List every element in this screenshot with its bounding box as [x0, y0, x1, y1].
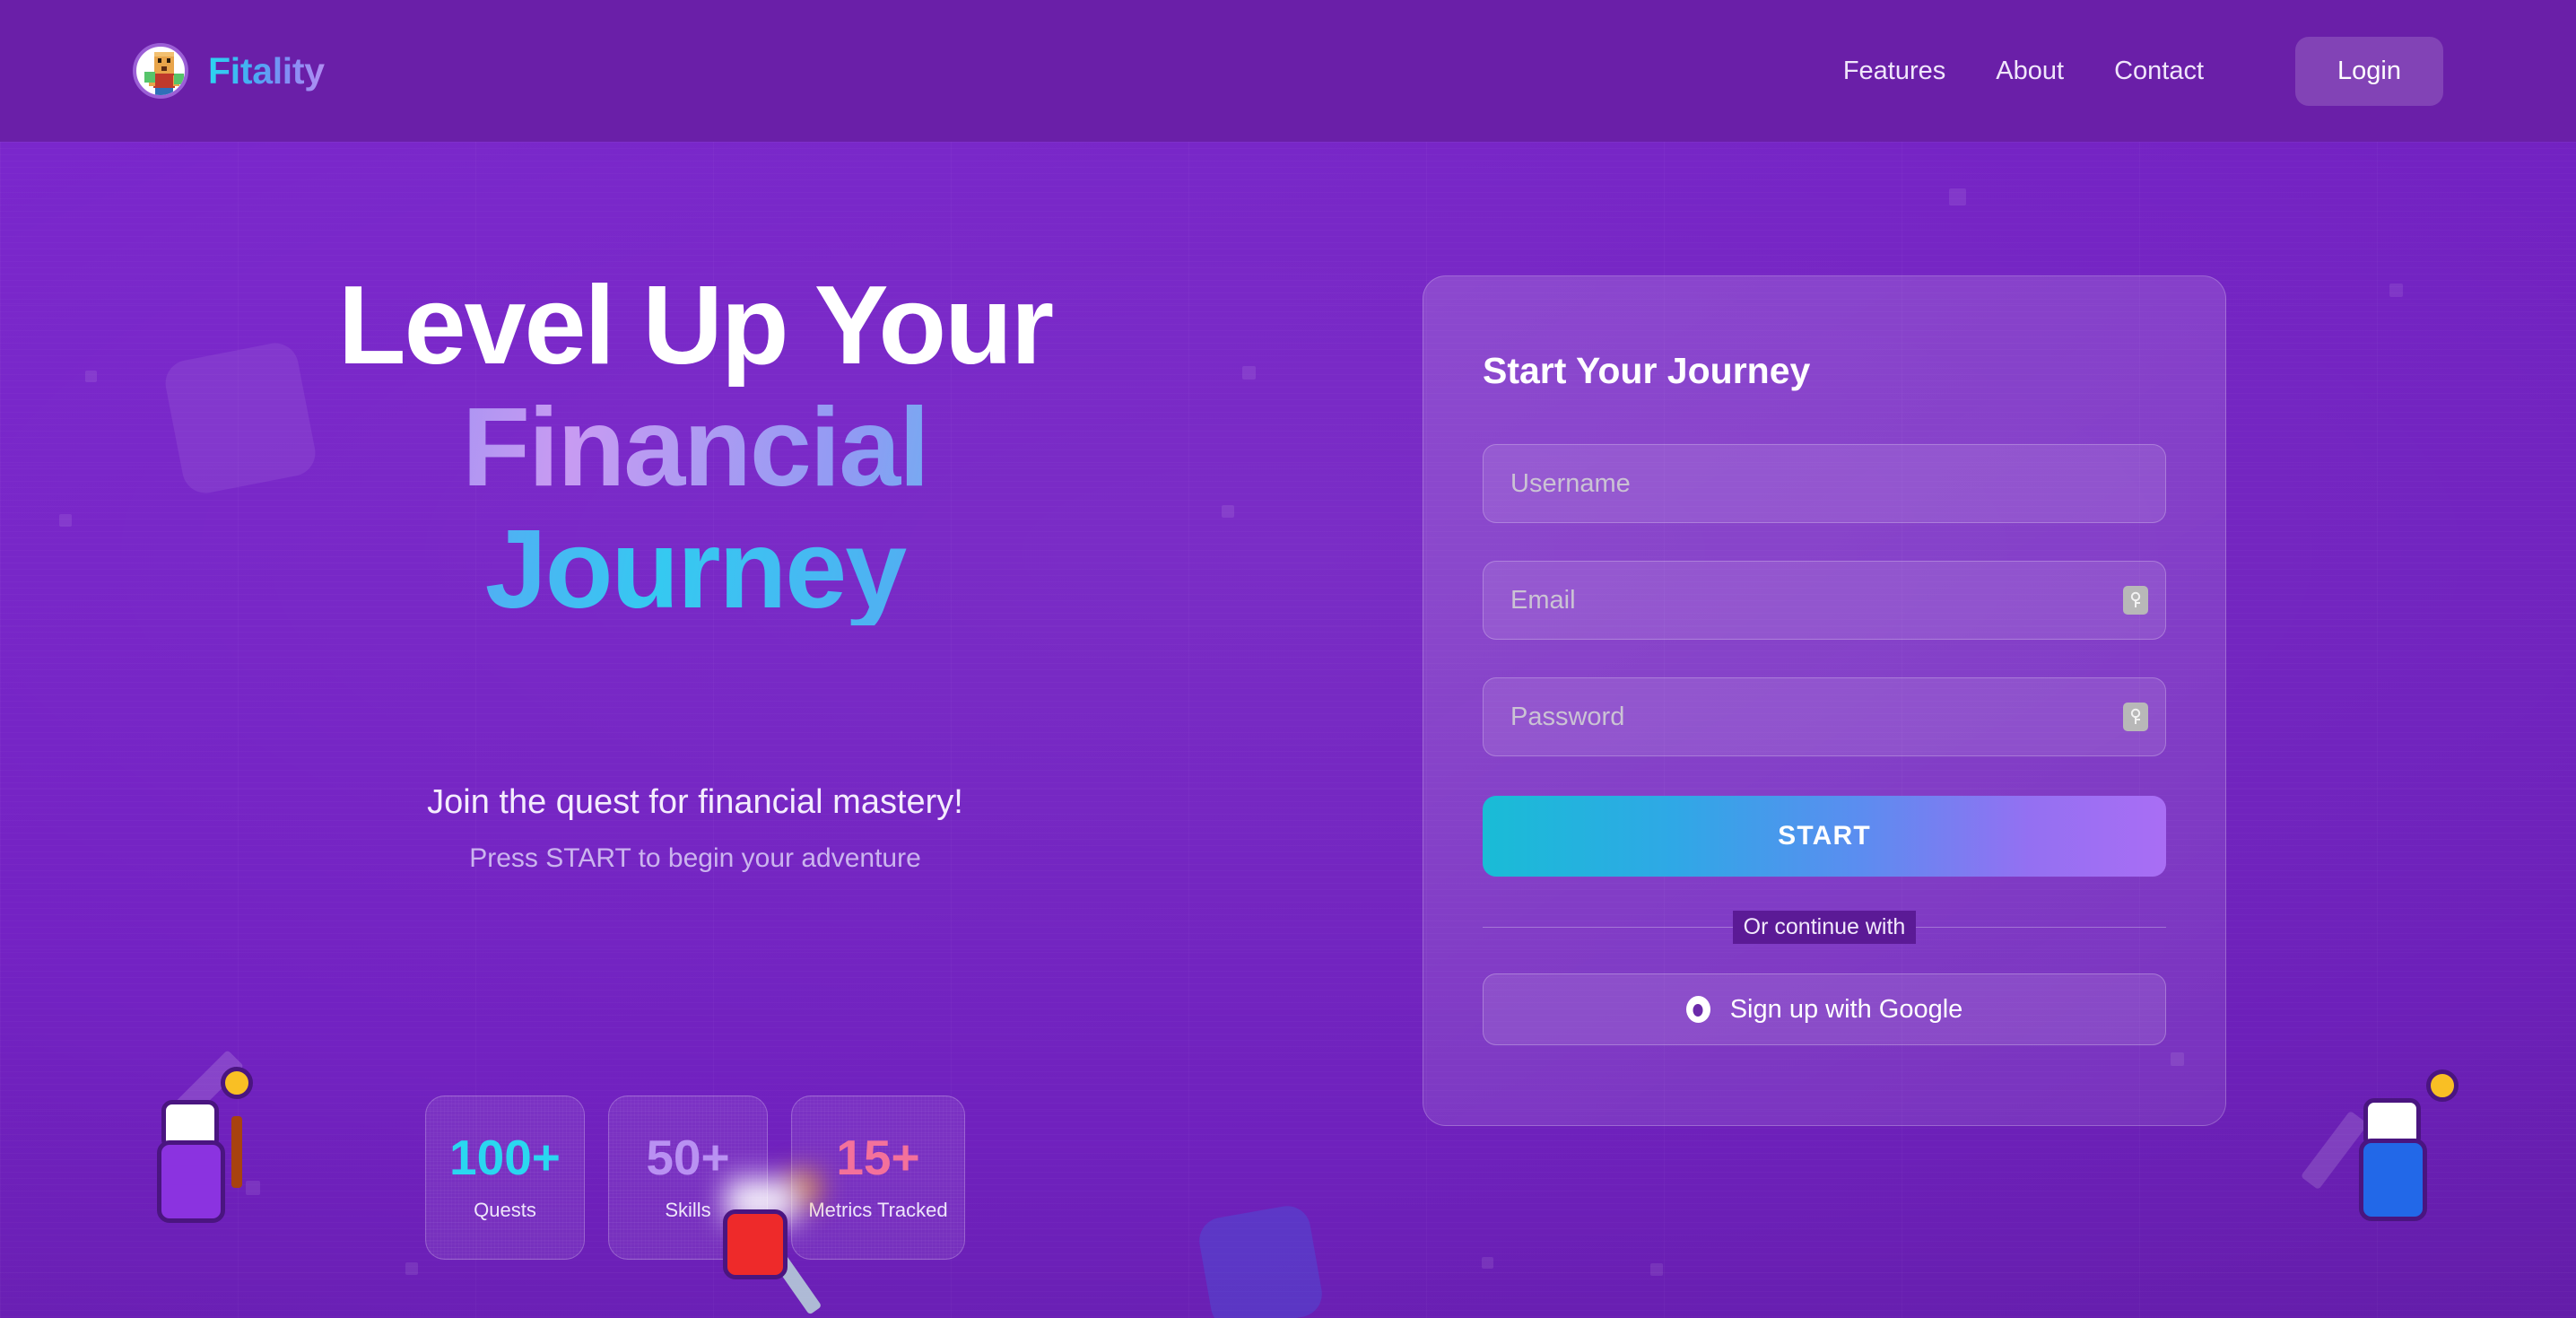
stat-value: 100+: [449, 1133, 561, 1183]
stat-card-metrics: 15+ Metrics Tracked: [791, 1095, 965, 1260]
hero-headline: Level Up Your Financial Journey: [0, 270, 1489, 625]
stat-value: 50+: [646, 1133, 729, 1183]
hero-left-column: Level Up Your Financial Journey Join the…: [0, 142, 1489, 1318]
or-divider-label: Or continue with: [1733, 911, 1917, 944]
key-icon[interactable]: [2123, 586, 2148, 615]
login-button[interactable]: Login: [2295, 37, 2443, 106]
stat-label: Quests: [474, 1199, 536, 1222]
google-icon: [1686, 996, 1710, 1023]
particle-dot: [2389, 284, 2403, 297]
start-button[interactable]: START: [1483, 796, 2166, 877]
nav-link-features[interactable]: Features: [1843, 57, 1945, 86]
or-divider: Or continue with: [1483, 916, 2166, 938]
key-icon[interactable]: [2123, 703, 2148, 731]
main-nav: Features About Contact Login: [1843, 37, 2443, 106]
google-signup-label: Sign up with Google: [1730, 995, 1963, 1025]
email-input[interactable]: [1483, 561, 2166, 640]
nav-link-about[interactable]: About: [1996, 57, 2064, 86]
stat-value: 15+: [836, 1133, 919, 1183]
stat-label: Skills: [665, 1199, 710, 1222]
username-input[interactable]: [1483, 444, 2166, 523]
email-field-wrap: [1483, 561, 2166, 640]
signup-card: Start Your Journey: [1423, 275, 2226, 1126]
brand[interactable]: Fitality: [133, 43, 325, 99]
password-field-wrap: [1483, 677, 2166, 756]
particle-dot: [1949, 188, 1966, 205]
username-field-wrap: [1483, 444, 2166, 523]
signup-card-title: Start Your Journey: [1483, 350, 2166, 392]
nav-link-contact[interactable]: Contact: [2114, 57, 2204, 86]
hero-subtitle: Join the quest for financial mastery!: [0, 783, 1489, 822]
brand-name: Fitality: [208, 50, 325, 92]
top-header: Fitality Features About Contact Login: [0, 0, 2576, 142]
page-root: Fitality Features About Contact Login Le…: [0, 0, 2576, 1318]
headline-line-2: Financial: [0, 392, 1489, 503]
headline-line-3: Journey: [0, 514, 1489, 625]
stats-row: 100+ Quests 50+ Skills 15+ Metrics Track…: [0, 1095, 1489, 1260]
stat-card-skills: 50+ Skills: [608, 1095, 768, 1260]
stat-card-quests: 100+ Quests: [425, 1095, 585, 1260]
password-input[interactable]: [1483, 677, 2166, 756]
headline-line-1: Level Up Your: [0, 270, 1489, 381]
hero-hint: Press START to begin your adventure: [0, 843, 1489, 874]
pixel-character-avatar-icon: [133, 43, 188, 99]
google-signup-button[interactable]: Sign up with Google: [1483, 973, 2166, 1045]
stat-label: Metrics Tracked: [808, 1199, 947, 1222]
particle-dot: [1650, 1263, 1663, 1276]
